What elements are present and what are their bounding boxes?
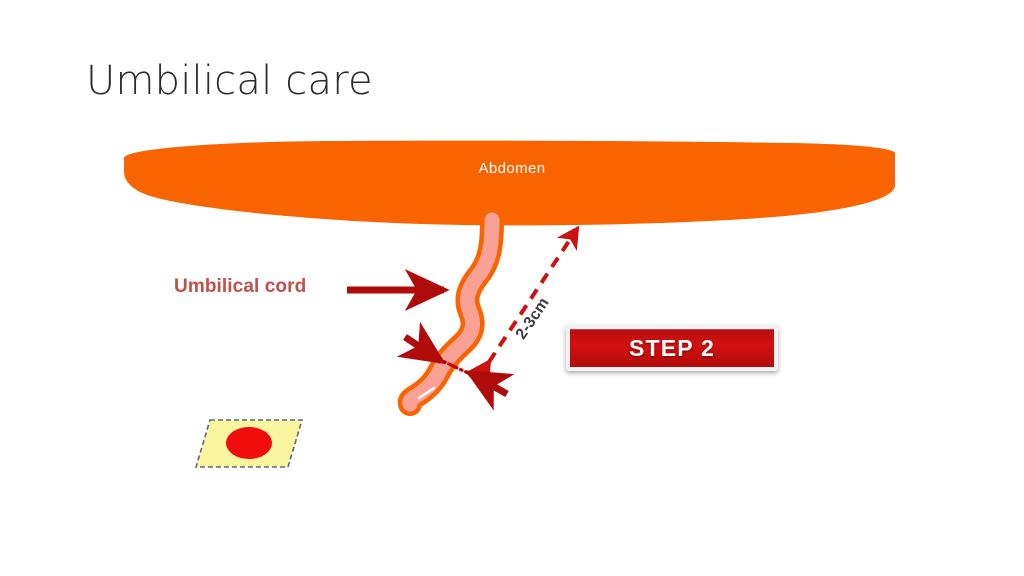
measurement-arrow	[489, 229, 577, 362]
gauze-swab-icon	[196, 420, 302, 467]
step-badge[interactable]: STEP 2	[566, 325, 778, 371]
umbilical-cord-label: Umbilical cord	[174, 276, 306, 298]
step-badge-label: STEP 2	[629, 335, 715, 362]
slide-canvas: Umbilical care Abdomen Umbilical cord 2-…	[0, 0, 1024, 576]
abdomen-shape	[124, 141, 895, 226]
page-title: Umbilical care	[86, 58, 373, 104]
